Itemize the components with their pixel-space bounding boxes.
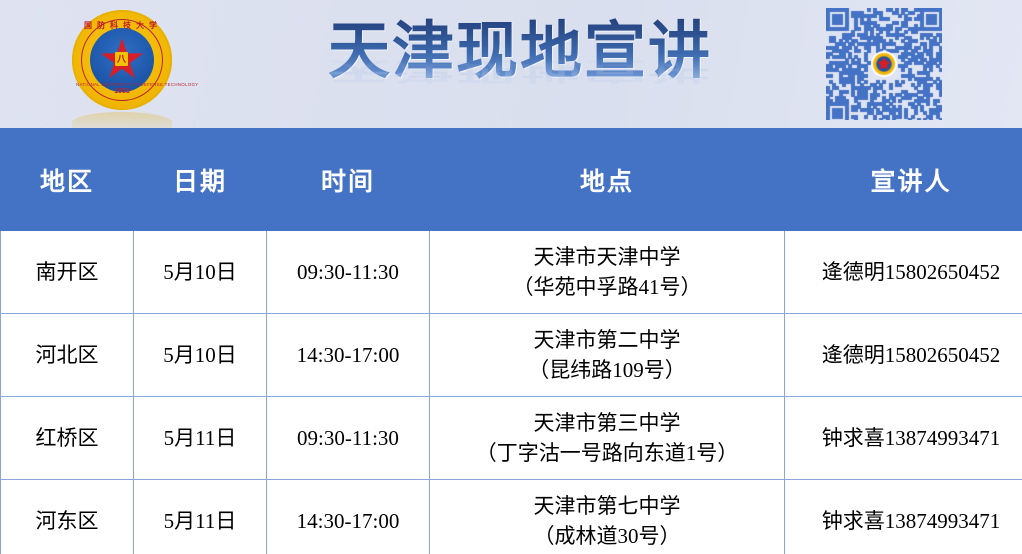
qr-code-icon[interactable] (826, 8, 942, 120)
cell-place: 天津市天津中学 （华苑中孚路41号） (430, 231, 785, 314)
cell-place: 天津市第七中学 （成林道30号） (430, 480, 785, 554)
cell-date: 5月11日 (134, 480, 267, 554)
column-header-time: 时间 (267, 129, 430, 231)
cell-speaker: 逄德明15802650452 (785, 314, 1022, 397)
place-line-2: （昆纬路109号） (431, 355, 783, 385)
banner: 国防科技大学 八 1953 NATIONAL UNIVERSITY OF DEF… (0, 0, 1022, 128)
table-body: 南开区 5月10日 09:30-11:30 天津市天津中学 （华苑中孚路41号）… (1, 231, 1022, 554)
place-line-1: 天津市天津中学 (431, 242, 783, 272)
cell-date: 5月11日 (134, 397, 267, 480)
emblem-reflection (72, 112, 172, 128)
table-row: 南开区 5月10日 09:30-11:30 天津市天津中学 （华苑中孚路41号）… (1, 231, 1022, 314)
banner-title-block: 天津现地宣讲 天津现地宣讲 (295, 14, 745, 126)
cell-date: 5月10日 (134, 314, 267, 397)
emblem-year: 1953 (104, 88, 140, 95)
table-header: 地区 日期 时间 地点 宣讲人 (1, 129, 1022, 231)
place-line-2: （华苑中孚路41号） (431, 272, 783, 302)
cell-time: 09:30-11:30 (267, 231, 430, 314)
schedule-table: 地区 日期 时间 地点 宣讲人 南开区 5月10日 09:30-11:30 天津… (0, 128, 1022, 554)
place-line-1: 天津市第七中学 (431, 491, 783, 521)
table-row: 红桥区 5月11日 09:30-11:30 天津市第三中学 （丁字沽一号路向东道… (1, 397, 1022, 480)
cell-date: 5月10日 (134, 231, 267, 314)
table-row: 河东区 5月11日 14:30-17:00 天津市第七中学 （成林道30号） 钟… (1, 480, 1022, 554)
cell-speaker: 钟求喜13874993471 (785, 397, 1022, 480)
page-title-reflection: 天津现地宣讲 (295, 58, 745, 84)
place-line-1: 天津市第二中学 (431, 325, 783, 355)
cell-area: 河北区 (1, 314, 134, 397)
cell-time: 09:30-11:30 (267, 397, 430, 480)
emblem-arc-text: NATIONAL UNIVERSITY OF DEFENSE TECHNOLOG… (76, 82, 168, 87)
table-header-row: 地区 日期 时间 地点 宣讲人 (1, 129, 1022, 231)
cell-time: 14:30-17:00 (267, 314, 430, 397)
cell-place: 天津市第二中学 （昆纬路109号） (430, 314, 785, 397)
cell-place: 天津市第三中学 （丁字沽一号路向东道1号） (430, 397, 785, 480)
schedule-table-wrap: 地区 日期 时间 地点 宣讲人 南开区 5月10日 09:30-11:30 天津… (0, 128, 1022, 554)
cell-speaker: 钟求喜13874993471 (785, 480, 1022, 554)
column-header-place: 地点 (430, 129, 785, 231)
cell-area: 南开区 (1, 231, 134, 314)
cell-area: 红桥区 (1, 397, 134, 480)
place-line-2: （成林道30号） (431, 521, 783, 551)
place-line-1: 天津市第三中学 (431, 408, 783, 438)
column-header-date: 日期 (134, 129, 267, 231)
column-header-area: 地区 (1, 129, 134, 231)
cell-speaker: 逄德明15802650452 (785, 231, 1022, 314)
emblem-star-char: 八 (115, 52, 128, 66)
cell-area: 河东区 (1, 480, 134, 554)
table-row: 河北区 5月10日 14:30-17:00 天津市第二中学 （昆纬路109号） … (1, 314, 1022, 397)
poster-page: 国防科技大学 八 1953 NATIONAL UNIVERSITY OF DEF… (0, 0, 1022, 554)
cell-time: 14:30-17:00 (267, 480, 430, 554)
nudt-emblem-icon: 国防科技大学 八 1953 NATIONAL UNIVERSITY OF DEF… (68, 8, 176, 120)
column-header-speaker: 宣讲人 (785, 129, 1022, 231)
place-line-2: （丁字沽一号路向东道1号） (431, 438, 783, 468)
qr-code-canvas (826, 8, 942, 120)
